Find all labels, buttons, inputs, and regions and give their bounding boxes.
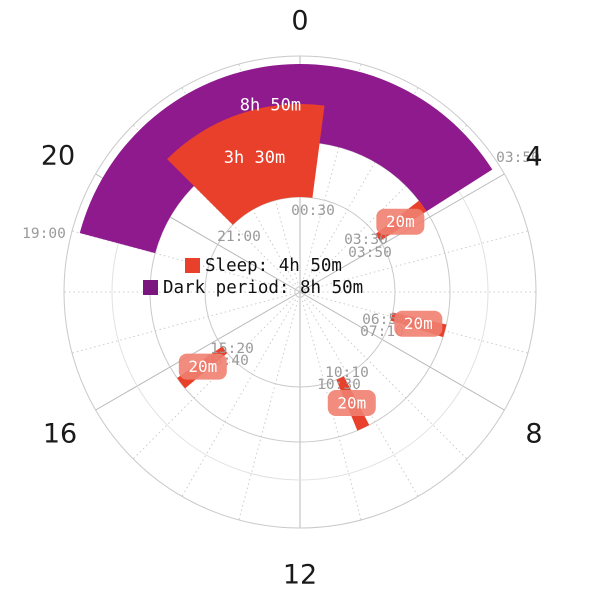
- legend-label: Dark period: 8h 50m: [163, 278, 363, 298]
- nap-4-badge: 20m: [179, 354, 227, 380]
- hour-label-0: 0: [291, 6, 308, 37]
- arcs-layer: [80, 64, 493, 253]
- grid-spoke: [182, 292, 300, 496]
- grid-spoke: [72, 292, 300, 353]
- nap-badge-label: 20m: [386, 212, 415, 231]
- legend-label: Sleep: 4h 50m: [205, 256, 342, 276]
- nap-3-badge: 20m: [328, 390, 376, 416]
- sleep-clock-chart: 19:0003:5021:0000:3003:3003:5006:5007:10…: [0, 0, 600, 600]
- time-annotation: 00:30: [291, 203, 335, 219]
- sleep-main-label: 3h 30m: [224, 148, 285, 168]
- dark-period-label: 8h 50m: [240, 95, 301, 115]
- time-annotation: 21:00: [217, 229, 261, 245]
- legend-swatch: [185, 258, 200, 273]
- time-annotation: 19:00: [22, 226, 66, 242]
- nap-1-badge: 20m: [376, 209, 424, 235]
- time-annotation: 03:50: [348, 245, 392, 261]
- nap-2-badge: 20m: [394, 311, 442, 337]
- polar-sleep-chart-svg: 19:0003:5021:0000:3003:3003:5006:5007:10…: [0, 0, 600, 600]
- legend-item-0[interactable]: Sleep: 4h 50m: [185, 256, 342, 276]
- legend-item-1[interactable]: Dark period: 8h 50m: [143, 278, 363, 298]
- grid-spoke: [239, 292, 300, 520]
- hour-label-8: 8: [525, 419, 542, 450]
- hour-label-4: 4: [525, 142, 542, 173]
- hour-label-20: 20: [41, 141, 75, 172]
- hour-label-12: 12: [283, 560, 317, 591]
- legend: Sleep: 4h 50mDark period: 8h 50m: [143, 256, 363, 298]
- nap-badge-label: 20m: [404, 314, 433, 333]
- grid-spoke: [96, 292, 300, 410]
- nap-badge-label: 20m: [337, 394, 366, 413]
- legend-swatch: [143, 280, 158, 295]
- nap-badge-label: 20m: [188, 357, 217, 376]
- hour-label-16: 16: [43, 419, 77, 450]
